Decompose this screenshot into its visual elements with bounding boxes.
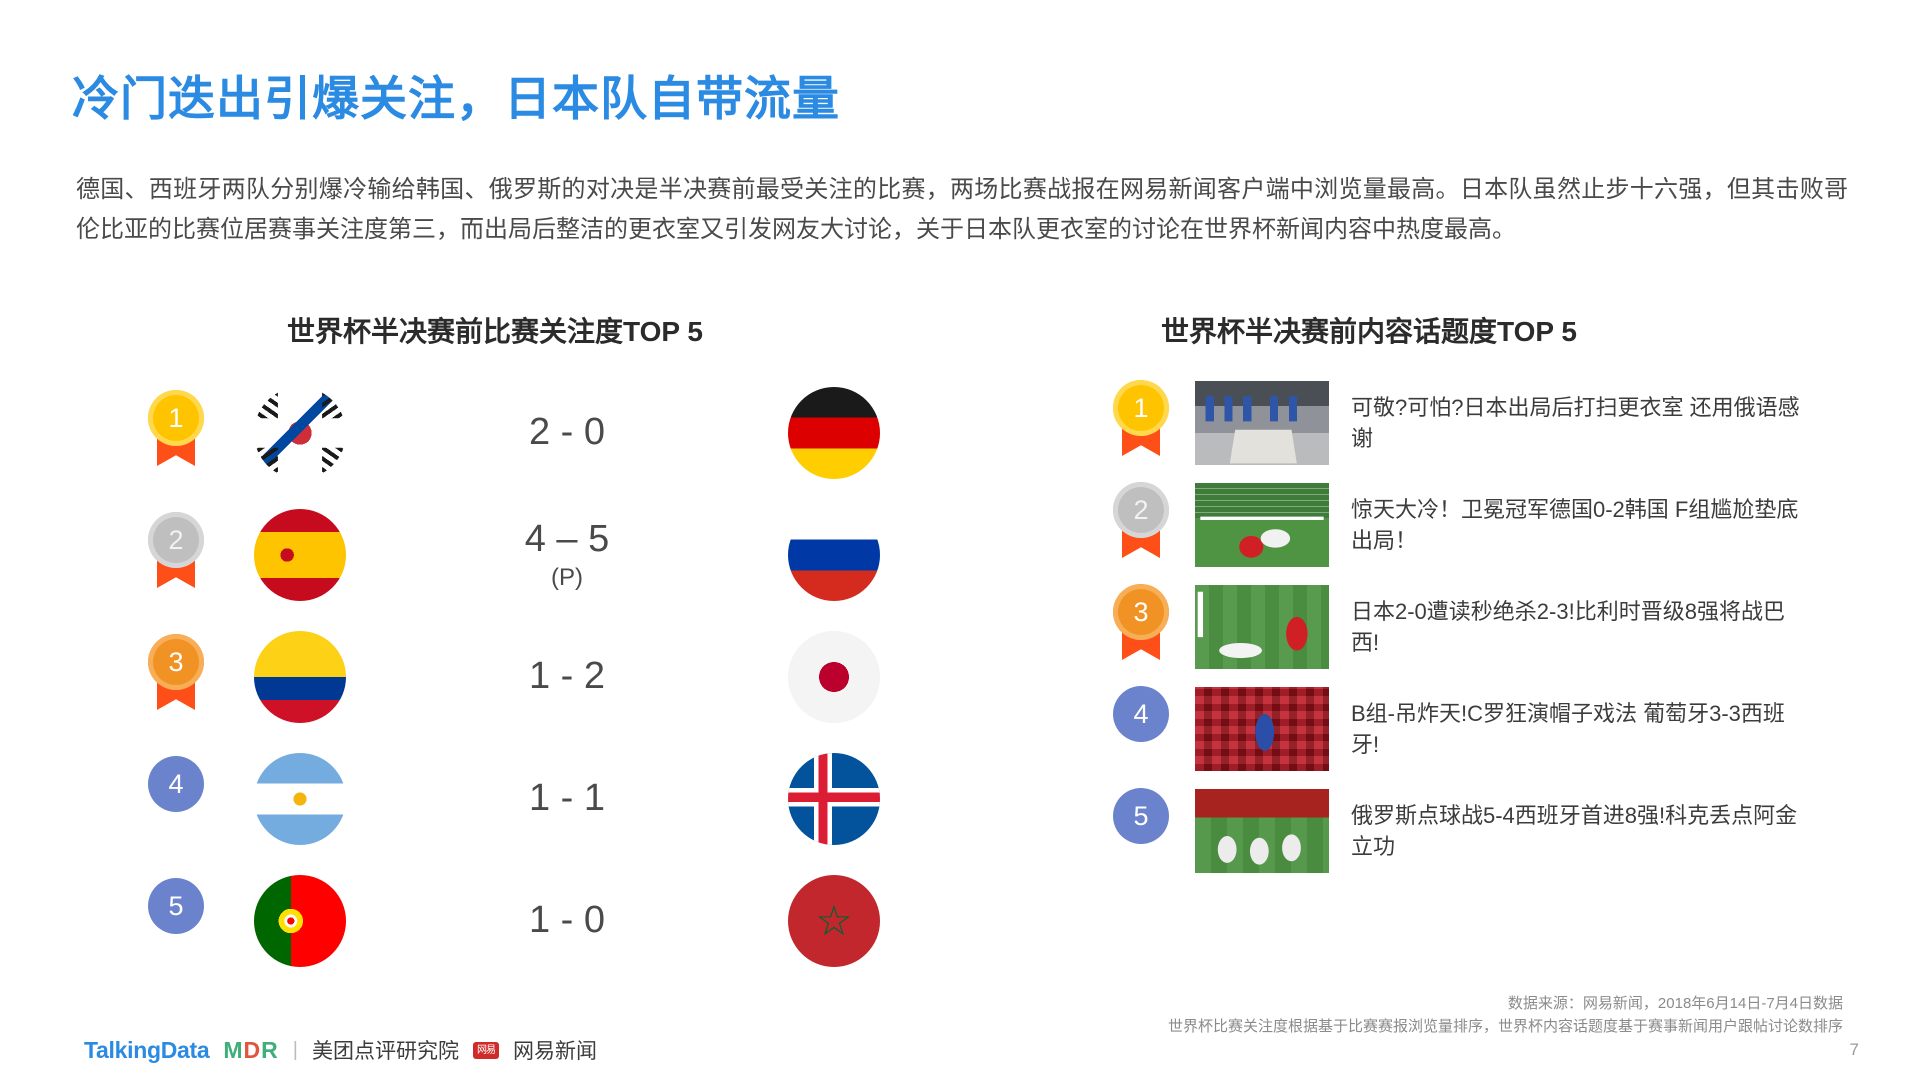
home-team xyxy=(254,753,346,845)
home-team xyxy=(254,509,346,601)
match-score: 4 – 5(P) xyxy=(346,518,788,591)
rank-medal-1: 1 xyxy=(1105,380,1177,466)
logo-divider: | xyxy=(293,1039,298,1062)
news-headline: 可敬?可怕?日本出局后打扫更衣室 还用俄语感谢 xyxy=(1351,392,1811,454)
page-title: 冷门迭出引爆关注，日本队自带流量 xyxy=(72,60,840,129)
match-row[interactable]: 24 – 5(P) xyxy=(140,494,880,616)
page-number: 7 xyxy=(1850,1040,1859,1060)
footnote-source: 数据来源：网易新闻，2018年6月14日-7月4日数据 xyxy=(1168,992,1843,1015)
netease-news-logo: 网易新闻 xyxy=(513,1035,597,1065)
news-item[interactable]: 5俄罗斯点球战5-4西班牙首进8强!科克丢点阿金立功 xyxy=(1105,780,1865,882)
rank-number: 4 xyxy=(148,756,204,812)
flag-日本 xyxy=(788,631,880,723)
rank-number: 1 xyxy=(148,390,204,446)
logo-bar: TalkingData MDR | 美团点评研究院 网易 网易新闻 xyxy=(84,1035,597,1065)
slide-root: 冷门迭出引爆关注，日本队自带流量 德国、西班牙两队分别爆冷输给韩国、俄罗斯的对决… xyxy=(0,0,1921,1080)
rank-medal-4: 4 xyxy=(1105,686,1177,772)
flag-俄罗斯 xyxy=(788,509,880,601)
penalty-note: (P) xyxy=(346,564,788,592)
away-team xyxy=(788,387,880,479)
news-thumbnail[interactable] xyxy=(1195,381,1329,465)
match-score: 1 - 1 xyxy=(346,777,788,821)
rank-medal-2: 2 xyxy=(140,512,212,598)
news-thumbnail[interactable] xyxy=(1195,483,1329,567)
news-headline: B组-吊炸天!C罗狂演帽子戏法 葡萄牙3-3西班牙! xyxy=(1351,698,1811,760)
flag-摩洛哥: ☆ xyxy=(788,875,880,967)
rank-number: 2 xyxy=(148,512,204,568)
away-team xyxy=(788,509,880,601)
news-item[interactable]: 1可敬?可怕?日本出局后打扫更衣室 还用俄语感谢 xyxy=(1105,372,1865,474)
match-ranking-list: 12 - 024 – 5(P)31 - 241 - 151 - 0☆ xyxy=(140,372,880,982)
news-thumbnail[interactable] xyxy=(1195,687,1329,771)
news-headline: 日本2-0遭读秒绝杀2-3!比利时晋级8强将战巴西! xyxy=(1351,596,1811,658)
rank-number: 3 xyxy=(1113,584,1169,640)
away-team xyxy=(788,631,880,723)
flag-德国 xyxy=(788,387,880,479)
flag-韩国 xyxy=(254,387,346,479)
news-thumbnail[interactable] xyxy=(1195,585,1329,669)
news-item[interactable]: 3日本2-0遭读秒绝杀2-3!比利时晋级8强将战巴西! xyxy=(1105,576,1865,678)
match-row[interactable]: 51 - 0☆ xyxy=(140,860,880,982)
match-score: 1 - 2 xyxy=(346,655,788,699)
rank-medal-3: 3 xyxy=(1105,584,1177,670)
away-team: ☆ xyxy=(788,875,880,967)
rank-medal-2: 2 xyxy=(1105,482,1177,568)
rank-medal-3: 3 xyxy=(140,634,212,720)
rank-medal-1: 1 xyxy=(140,390,212,476)
footnote-method: 世界杯比赛关注度根据基于比赛赛报浏览量排序，世界杯内容话题度基于赛事新闻用户跟帖… xyxy=(1168,1015,1843,1038)
rank-number: 4 xyxy=(1113,686,1169,742)
away-team xyxy=(788,753,880,845)
rank-medal-5: 5 xyxy=(140,878,212,964)
news-item[interactable]: 4B组-吊炸天!C罗狂演帽子戏法 葡萄牙3-3西班牙! xyxy=(1105,678,1865,780)
footnote: 数据来源：网易新闻，2018年6月14日-7月4日数据 世界杯比赛关注度根据基于… xyxy=(1168,992,1843,1038)
rank-medal-4: 4 xyxy=(140,756,212,842)
topic-ranking-list: 1可敬?可怕?日本出局后打扫更衣室 还用俄语感谢2惊天大冷！卫冕冠军德国0-2韩… xyxy=(1105,372,1865,882)
news-headline: 惊天大冷！卫冕冠军德国0-2韩国 F组尴尬垫底出局！ xyxy=(1351,494,1811,556)
news-item[interactable]: 2惊天大冷！卫冕冠军德国0-2韩国 F组尴尬垫底出局！ xyxy=(1105,474,1865,576)
netease-badge-icon: 网易 xyxy=(473,1042,499,1059)
rank-number: 3 xyxy=(148,634,204,690)
mdr-logo: MDR xyxy=(223,1037,278,1064)
match-row[interactable]: 31 - 2 xyxy=(140,616,880,738)
home-team xyxy=(254,631,346,723)
home-team xyxy=(254,387,346,479)
news-thumbnail[interactable] xyxy=(1195,789,1329,873)
rank-number: 2 xyxy=(1113,482,1169,538)
news-headline: 俄罗斯点球战5-4西班牙首进8强!科克丢点阿金立功 xyxy=(1351,800,1811,862)
flag-西班牙 xyxy=(254,509,346,601)
flag-葡萄牙 xyxy=(254,875,346,967)
rank-number: 5 xyxy=(1113,788,1169,844)
talkingdata-logo: TalkingData xyxy=(84,1037,209,1064)
flag-冰岛 xyxy=(788,753,880,845)
right-section-heading: 世界杯半决赛前内容话题度TOP 5 xyxy=(1161,310,1577,350)
flag-哥伦比亚 xyxy=(254,631,346,723)
match-row[interactable]: 12 - 0 xyxy=(140,372,880,494)
left-section-heading: 世界杯半决赛前比赛关注度TOP 5 xyxy=(287,310,703,350)
intro-paragraph: 德国、西班牙两队分别爆冷输给韩国、俄罗斯的对决是半决赛前最受关注的比赛，两场比赛… xyxy=(76,170,1848,250)
match-score: 2 - 0 xyxy=(346,411,788,455)
flag-阿根廷 xyxy=(254,753,346,845)
rank-medal-5: 5 xyxy=(1105,788,1177,874)
match-row[interactable]: 41 - 1 xyxy=(140,738,880,860)
rank-number: 5 xyxy=(148,878,204,934)
home-team xyxy=(254,875,346,967)
rank-number: 1 xyxy=(1113,380,1169,436)
match-score: 1 - 0 xyxy=(346,899,788,943)
meituan-research-logo: 美团点评研究院 xyxy=(312,1035,459,1065)
